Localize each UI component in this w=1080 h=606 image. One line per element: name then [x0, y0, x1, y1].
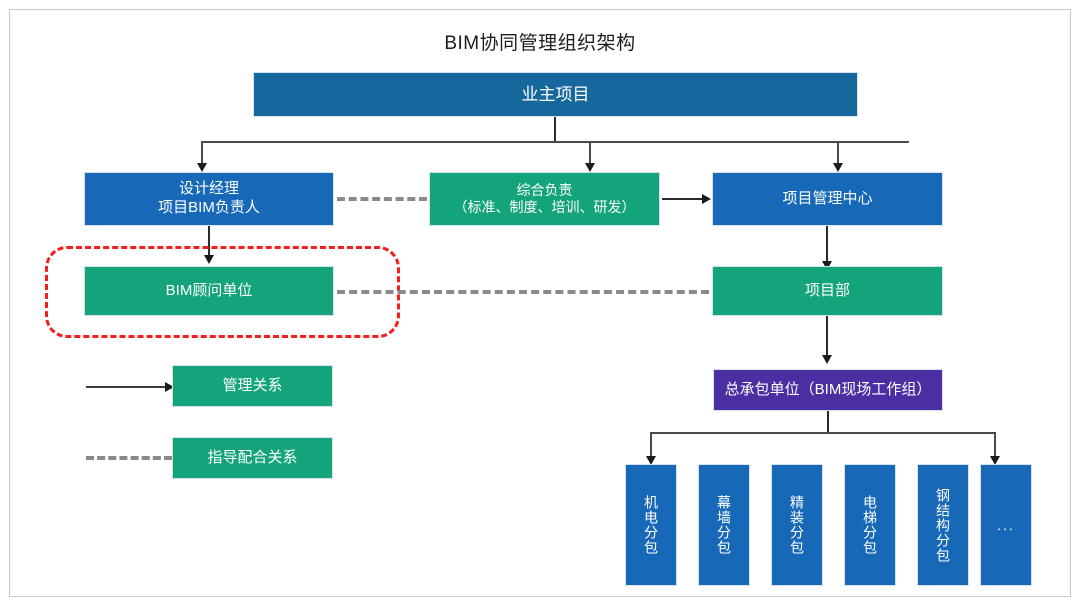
connector-pmc-to-department	[826, 226, 828, 264]
arrow-down-design-icon	[197, 163, 207, 172]
node-design-manager[interactable]: 设计经理 项目BIM负责人	[84, 172, 334, 226]
legend-item-management: 管理关系	[172, 365, 333, 407]
node-subcontractor[interactable]: 钢结构分包	[917, 464, 969, 586]
connector-department-to-contractor	[826, 316, 828, 359]
subcontractor-label: 钢结构分包	[936, 488, 950, 563]
node-subcontractor[interactable]: 精装分包	[771, 464, 823, 586]
arrow-down-general-icon	[585, 163, 595, 172]
subcontractor-label: 幕墙分包	[717, 495, 731, 555]
node-general-contractor[interactable]: 总承包单位（BIM现场工作组）	[713, 369, 943, 411]
subcontractor-label: 机电分包	[644, 495, 658, 555]
connector-contractor-bus	[650, 432, 996, 434]
node-subcontractor[interactable]: 电梯分包	[844, 464, 896, 586]
subcontractor-label: ...	[997, 518, 1015, 532]
legend-solid-line	[86, 386, 166, 388]
connector-drop-pmc	[837, 141, 839, 165]
connector-owner-trunk	[554, 117, 556, 142]
diagram-canvas: BIM协同管理组织架构 业主项目 设计经理 项目BIM负责人 综合负责 （标准、…	[0, 0, 1080, 606]
connector-owner-bus	[201, 141, 909, 143]
connector-drop-design	[201, 141, 203, 165]
node-subcontractor[interactable]: 机电分包	[625, 464, 677, 586]
arrow-down-contractor-icon	[822, 355, 832, 364]
arrow-down-pmc-icon	[833, 163, 843, 172]
connector-general-to-pmc	[662, 198, 703, 200]
connector-dashed-consultant-department	[337, 290, 709, 294]
node-project-department[interactable]: 项目部	[712, 266, 943, 316]
subcontractor-label: 精装分包	[790, 495, 804, 555]
arrow-right-pmc-icon	[702, 194, 711, 204]
node-subcontractor[interactable]: 幕墙分包	[698, 464, 750, 586]
page-title: BIM协同管理组织架构	[0, 28, 1080, 55]
connector-dashed-design-general	[337, 197, 427, 201]
legend-item-guidance: 指导配合关系	[172, 437, 333, 479]
node-subcontractor-more[interactable]: ...	[980, 464, 1032, 586]
connector-drop-general	[589, 141, 591, 165]
connector-contractor-trunk	[827, 411, 829, 433]
legend-dashed-line	[86, 456, 172, 460]
node-owner-project[interactable]: 业主项目	[253, 72, 858, 117]
node-bim-consultant[interactable]: BIM顾问单位	[84, 266, 334, 316]
connector-drop-sub-last	[994, 432, 996, 459]
subcontractor-label: 电梯分包	[863, 495, 877, 555]
connector-drop-sub-first	[650, 432, 652, 459]
node-project-management-center[interactable]: 项目管理中心	[712, 172, 943, 226]
node-general-responsibility[interactable]: 综合负责 （标准、制度、培训、研发）	[429, 172, 660, 226]
